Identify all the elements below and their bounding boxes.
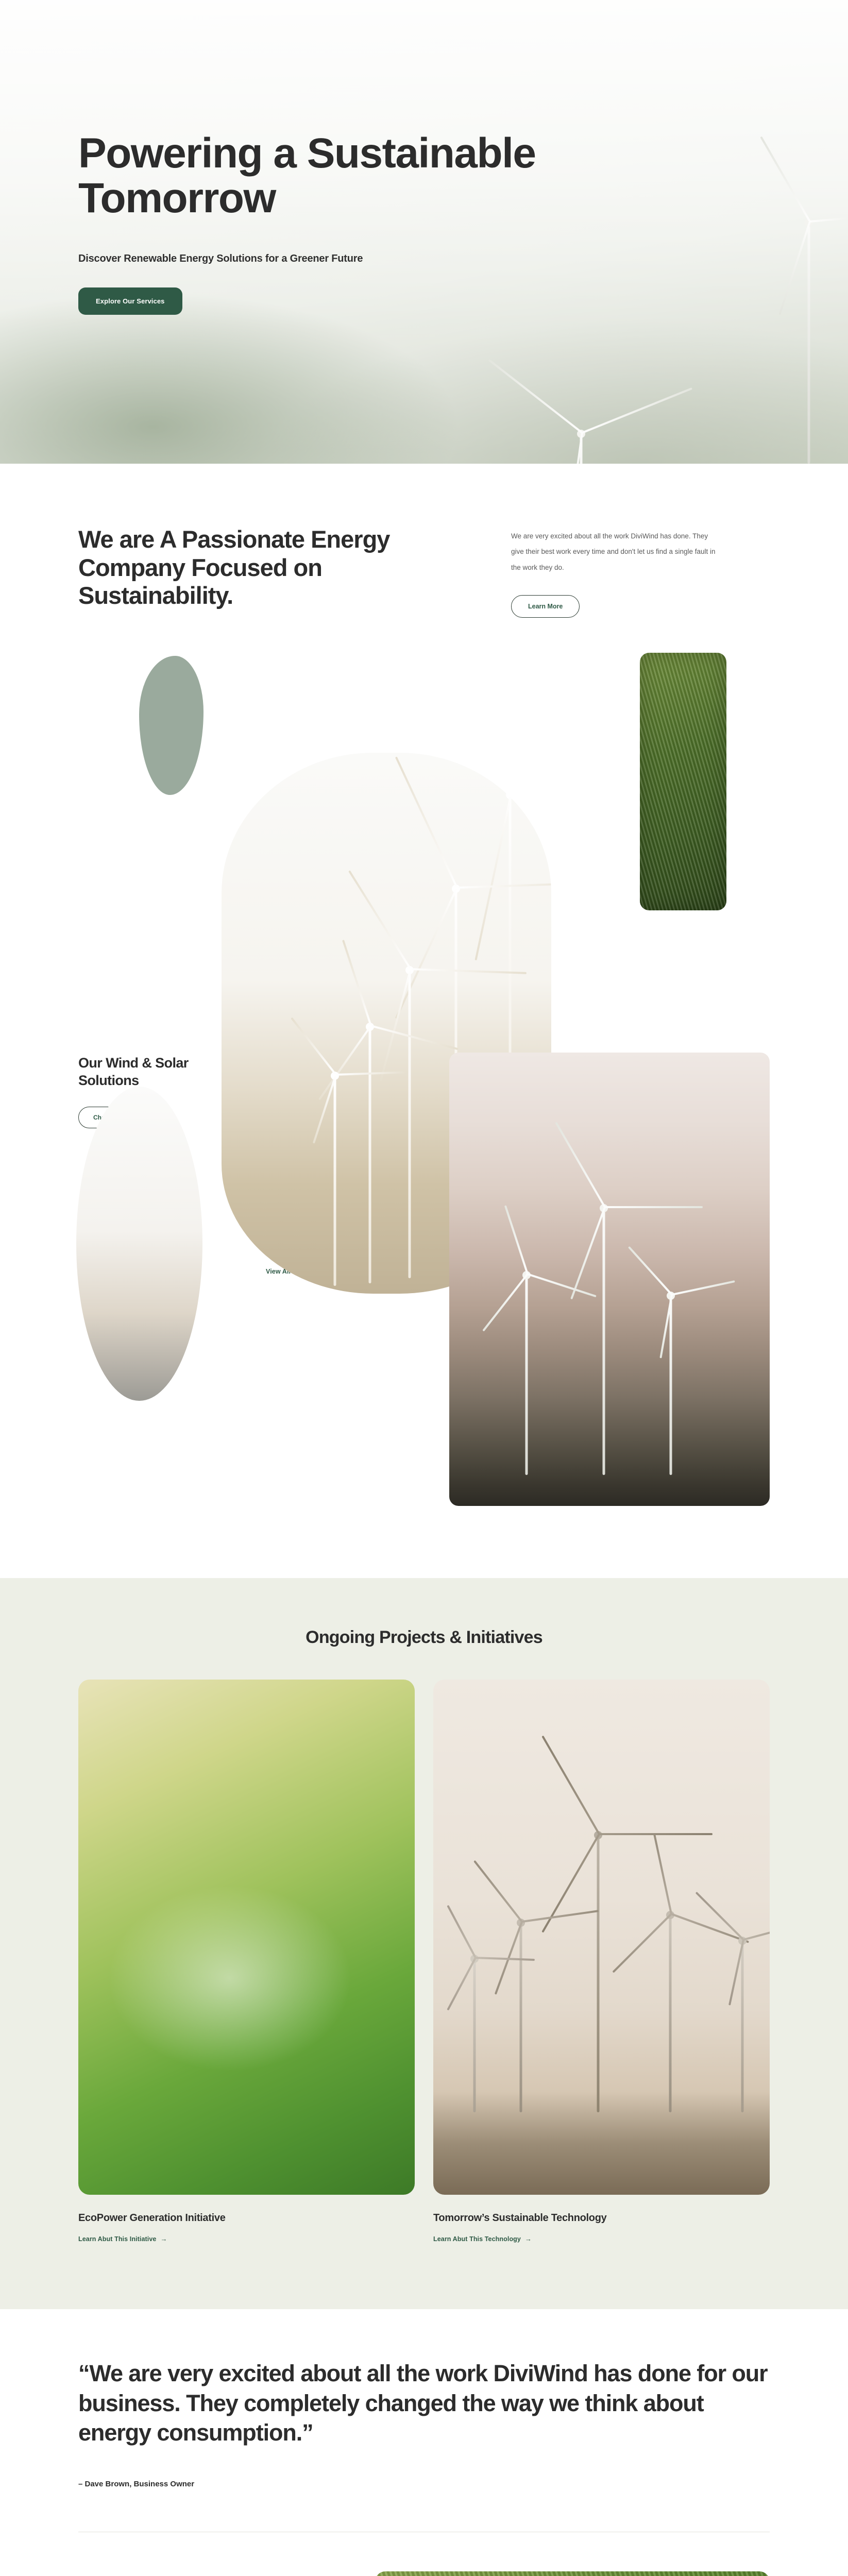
testimonial-author: – Dave Brown, Business Owner (78, 2480, 770, 2488)
landing-page: Powering a Sustainable Tomorrow Discover… (0, 0, 848, 2576)
project-card-technology[interactable]: Tomorrow’s Sustainable Technology Learn … (433, 1680, 770, 2247)
wind-farm-field-image (433, 1680, 770, 2195)
projects-heading: Ongoing Projects & Initiatives (78, 1628, 770, 1648)
desert-wind-farm-image (449, 1053, 770, 1506)
arrow-right-icon: → (160, 2235, 167, 2243)
body-paragraph: Curabitur fermentum nulla non justo aliq… (78, 2571, 351, 2576)
image-collage (0, 630, 848, 991)
about-heading: We are A Passionate Energy Company Focus… (78, 526, 480, 610)
grass-thumbnail-image (640, 653, 726, 910)
leaf-sprout-image (78, 1680, 415, 2195)
image-column: Vivamus magna justo, lacinia eget consec… (375, 2571, 770, 2576)
project-card-ecopower[interactable]: EcoPower Generation Initiative Learn Abu… (78, 1680, 415, 2247)
tall-grass-image: Vivamus magna justo, lacinia eget consec… (375, 2571, 770, 2576)
text-and-images-section: Curabitur fermentum nulla non justo aliq… (0, 2532, 848, 2576)
hero-subtitle: Discover Renewable Energy Solutions for … (78, 253, 848, 265)
explore-our-services-button[interactable]: Explore Our Services (78, 287, 182, 315)
hero-section: Powering a Sustainable Tomorrow Discover… (0, 0, 848, 464)
learn-more-button[interactable]: Learn More (511, 595, 580, 618)
coastline-oval-image (76, 1087, 202, 1401)
learn-about-initiative-button[interactable]: Learn Abut This Initiative → (76, 2230, 169, 2247)
project-title: Tomorrow’s Sustainable Technology (433, 2212, 770, 2224)
project-title: EcoPower Generation Initiative (78, 2212, 415, 2224)
about-heading-wrap: We are A Passionate Energy Company Focus… (78, 526, 480, 610)
projects-grid: EcoPower Generation Initiative Learn Abu… (78, 1680, 770, 2247)
testimonial-quote: “We are very excited about all the work … (78, 2359, 769, 2448)
page-title: Powering a Sustainable Tomorrow (78, 131, 624, 221)
about-section: We are A Passionate Energy Company Focus… (0, 464, 848, 618)
text-column: Curabitur fermentum nulla non justo aliq… (78, 2571, 351, 2576)
about-paragraph: We are very excited about all the work D… (511, 529, 722, 575)
projects-section: Ongoing Projects & Initiatives EcoPower … (0, 1578, 848, 2309)
solutions-image-wrap (449, 1053, 770, 1506)
arrow-right-icon: → (525, 2235, 532, 2243)
learn-about-initiative-label: Learn Abut This Initiative (78, 2235, 156, 2243)
learn-about-technology-label: Learn Abut This Technology (433, 2235, 521, 2243)
testimonial-section: “We are very excited about all the work … (0, 2309, 848, 2494)
learn-about-technology-button[interactable]: Learn Abut This Technology → (431, 2230, 534, 2247)
about-side: We are very excited about all the work D… (511, 526, 770, 618)
sage-blob-shape (139, 656, 203, 795)
